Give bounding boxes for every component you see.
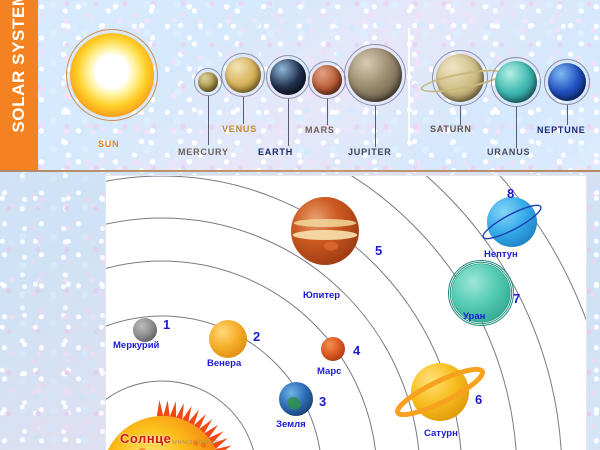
banner-planet-outline [308,61,346,99]
diagram-label-8: Нептун [484,249,518,260]
banner-leader-line [516,106,517,148]
sun-label-ru: Солнце [120,431,171,446]
diagram-number-8: 8 [507,186,514,201]
banner-planet-outline [266,55,310,99]
banner-leader-line [375,105,376,147]
watermark: www.solnet.ee [172,437,218,446]
diagram-number-3: 3 [319,394,326,409]
banner-label-uranus: URANUS [487,147,530,157]
diagram-number-6: 6 [475,392,482,407]
diagram-number-1: 1 [163,317,170,332]
banner-label-sun: SUN [98,139,119,149]
diagram-label-1: Меркурий [113,340,159,351]
diagram-planet-5-band-2 [293,230,358,240]
diagram-label-6: Сатурн [424,428,458,439]
banner-leader-line [327,98,328,125]
banner-label-neptune: NEPTUNE [537,125,586,135]
banner-planet-venus [225,57,261,93]
banner-bottom-rule [0,170,600,172]
diagram-label-2: Венера [207,358,241,369]
diagram-planet-1 [133,318,157,342]
diagram-planet-2 [209,320,247,358]
banner-label-earth: EARTH [258,147,293,157]
diagram-label-4: Марс [317,366,341,377]
banner-planet-sun [70,33,154,117]
banner-planet-outline [221,53,265,97]
banner-label-saturn: SATURN [430,124,472,134]
banner-planet-jupiter [348,48,402,102]
banner-label-mars: MARS [305,125,335,135]
slide-canvas: SUNMERCURYVENUSEARTHMARSJUPITERSATURNURA… [0,0,600,450]
banner-label-venus: VENUS [222,124,257,134]
diagram-label-7: Уран [463,311,485,322]
title-bar-orange: SOLAR SYSTEM [0,0,38,170]
banner-planet-outline [491,57,541,107]
banner-planet-outline [66,29,158,121]
diagram-planet-8 [487,197,537,247]
banner-leader-line [288,98,289,146]
banner-leader-line [567,104,568,125]
banner-planet-outline [194,68,222,96]
page-title: SOLAR SYSTEM [9,0,29,147]
banner-leader-line [243,96,244,124]
banner-label-jupiter: JUPITER [348,147,392,157]
banner-label-mercury: MERCURY [178,147,229,157]
banner-planet-outline [544,59,590,105]
banner-planet-uranus [495,61,537,103]
diagram-planet-5-red-spot [324,242,338,251]
banner-divider [408,28,410,146]
solar-system-diagram: 1Меркурий2Венера3Земля4Марс5Юпитер6Сатур… [106,176,586,450]
banner-planet-neptune [548,63,586,101]
diagram-label-3: Земля [276,419,306,430]
diagram-number-2: 2 [253,329,260,344]
diagram-number-4: 4 [353,343,360,358]
banner-planet-mercury [198,72,218,92]
diagram-number-7: 7 [513,291,520,306]
banner-planet-earth [270,59,306,95]
diagram-label-5: Юпитер [303,290,340,301]
banner-planet-outline [344,44,406,106]
banner-leader-line [208,95,209,145]
diagram-number-5: 5 [375,243,382,258]
banner-leader-line [460,105,461,125]
banner-planet-mars [312,65,342,95]
diagram-planet-5-band-1 [294,219,357,227]
banner-solar-system: SUNMERCURYVENUSEARTHMARSJUPITERSATURNURA… [0,0,600,170]
orbit-svg [106,176,586,450]
diagram-planet-4 [321,337,345,361]
